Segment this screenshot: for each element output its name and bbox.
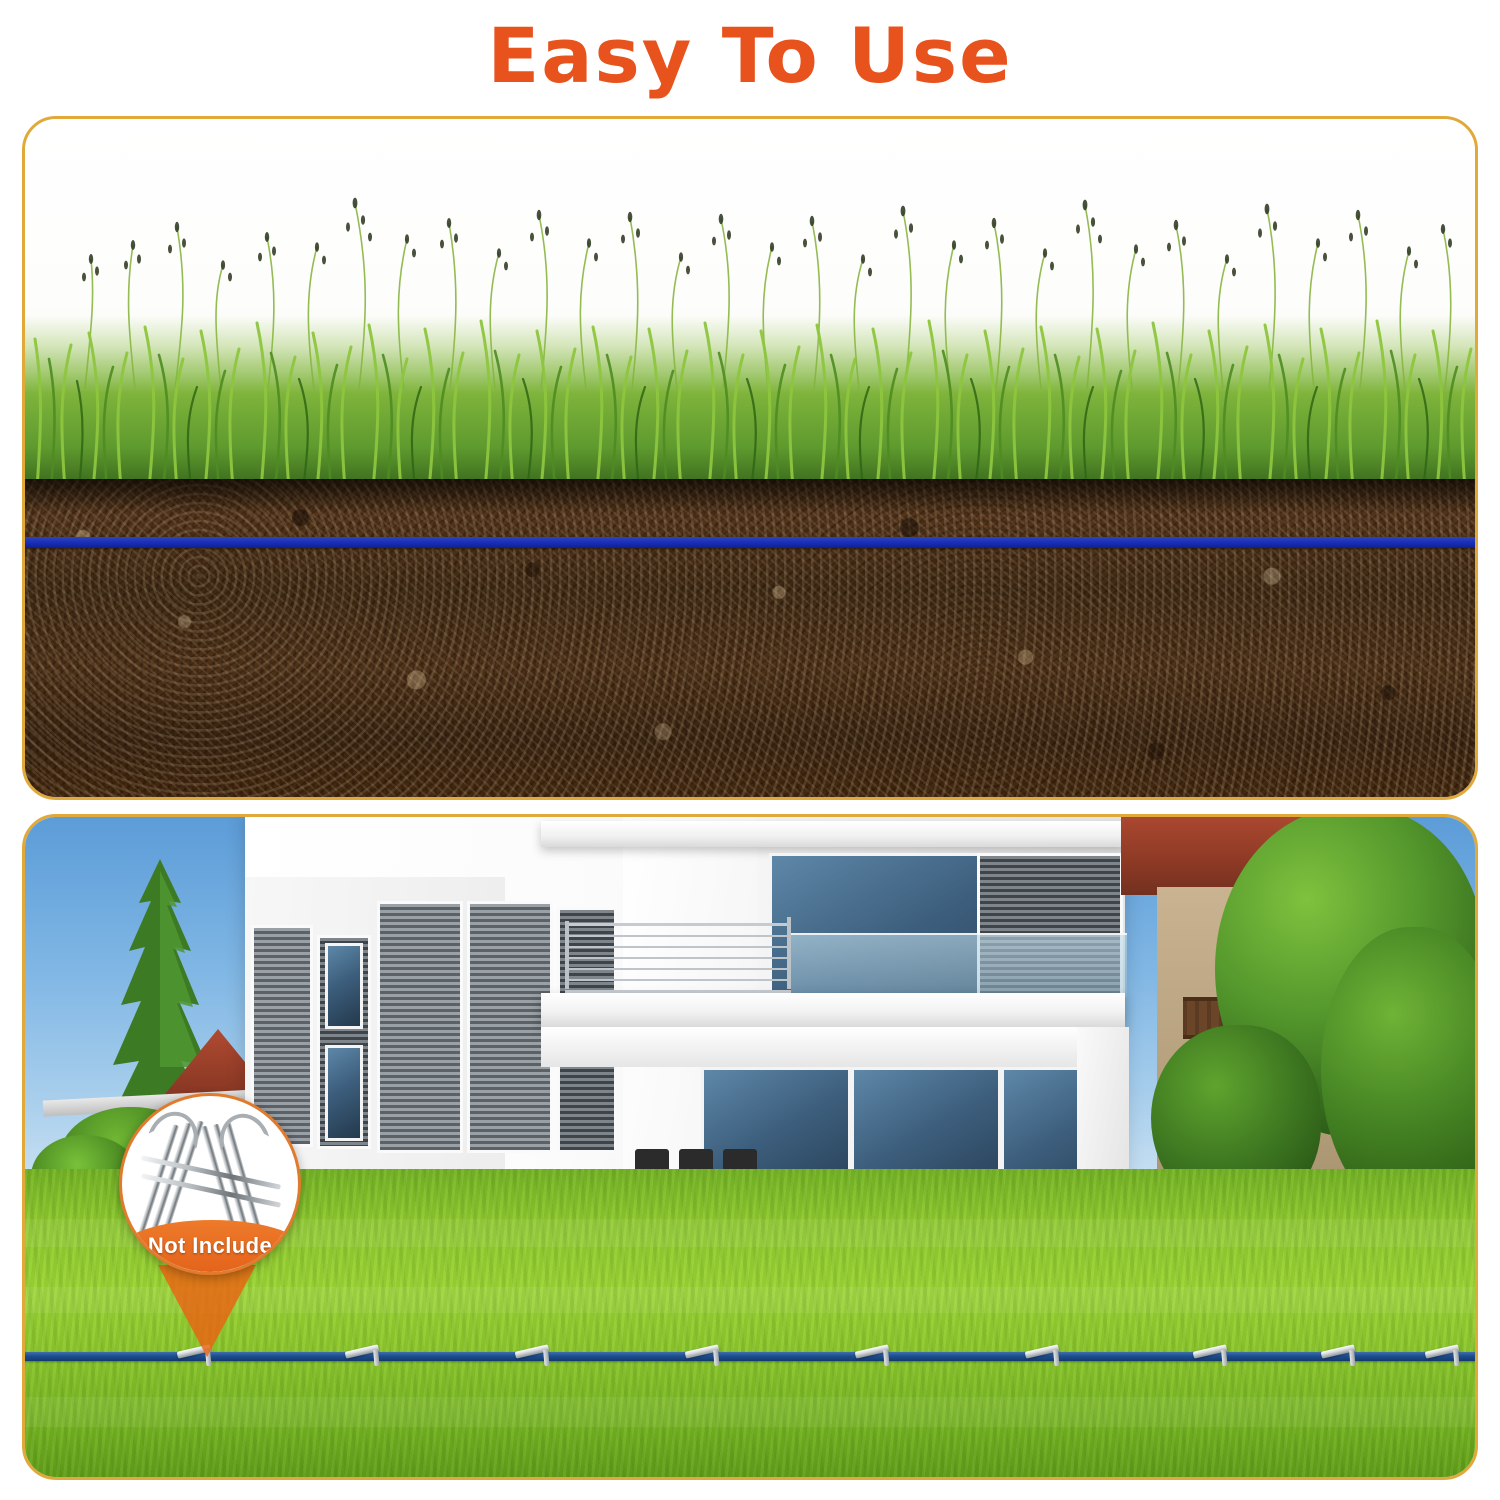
balcony-railing	[565, 923, 791, 993]
balcony-floor-slab	[541, 993, 1125, 1027]
grass-blades-illustration	[25, 269, 1475, 489]
window-left-upper	[325, 943, 363, 1029]
soil-top-shadow	[25, 479, 1475, 515]
balcony-glass-rail	[791, 933, 1127, 997]
soil-layer	[25, 479, 1475, 800]
buried-wire-line	[25, 537, 1475, 548]
terrace-soffit	[541, 1027, 1125, 1067]
balcony-roof-slab	[541, 821, 1125, 847]
window-left-lower	[325, 1045, 363, 1141]
blinds-panel-left-c	[377, 901, 463, 1153]
railing-post	[565, 921, 569, 989]
page-title: Easy To Use	[0, 8, 1500, 104]
callout-pointer-cone	[158, 1265, 256, 1357]
staples-product-callout: Not Include	[119, 1093, 301, 1275]
panel-above-ground-wire: Not Include Run it above ground and secu…	[22, 814, 1478, 1480]
not-include-label: Not Include	[122, 1233, 298, 1259]
panel-buried-wire: Bury the wire underground with a garden …	[22, 116, 1478, 800]
lawn-mow-stripe-3	[25, 1397, 1475, 1427]
stake-u-bend	[213, 1108, 269, 1151]
